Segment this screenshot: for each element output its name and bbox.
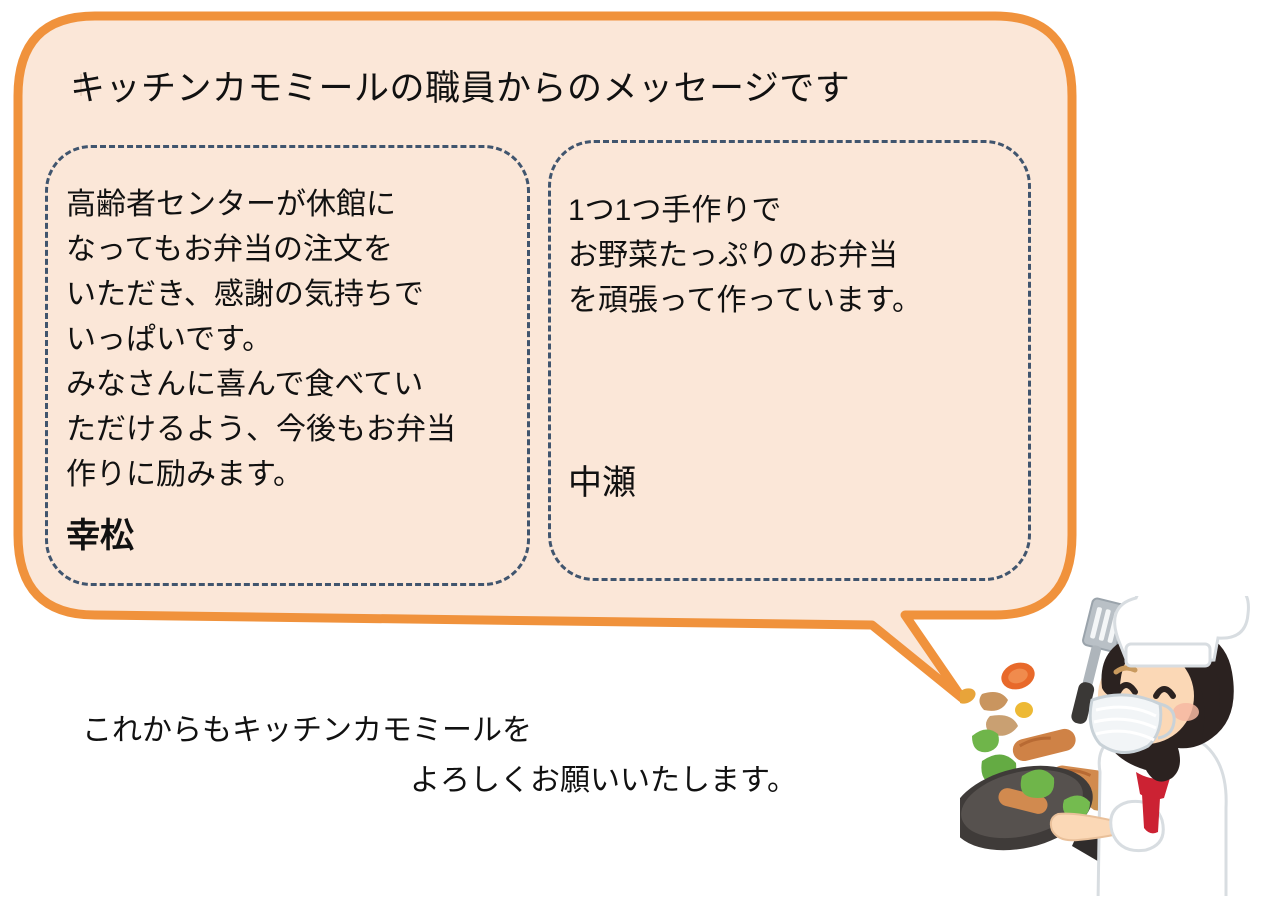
sausage-icon — [1011, 727, 1078, 764]
broccoli-icon — [972, 729, 999, 752]
closing-line-2: よろしくお願いいたします。 — [410, 762, 797, 800]
chef-hat-icon — [1115, 596, 1249, 666]
message-body-right: 1つ1つ手作りで お野菜たっぷりのお弁当 を頑張って作っています。 — [568, 188, 1038, 323]
female-chef-illustration — [960, 596, 1280, 896]
corn-kernel-icon — [960, 685, 978, 706]
corn-kernel-icon — [1015, 702, 1033, 718]
signature-left: 幸松 — [66, 518, 134, 555]
signature-right: 中瀬 — [568, 465, 636, 502]
message-body-left: 高齢者センターが休館に なってもお弁当の注文を いただき、感謝の気持ちで いっぱ… — [66, 182, 536, 497]
poster-canvas: キッチンカモミールの職員からのメッセージです 高齢者センターが休館に なってもお… — [0, 0, 1280, 905]
page-title: キッチンカモミールの職員からのメッセージです — [70, 68, 850, 110]
closing-line-1: これからもキッチンカモミールを — [82, 712, 532, 750]
potato-chunk-icon — [979, 692, 1008, 711]
